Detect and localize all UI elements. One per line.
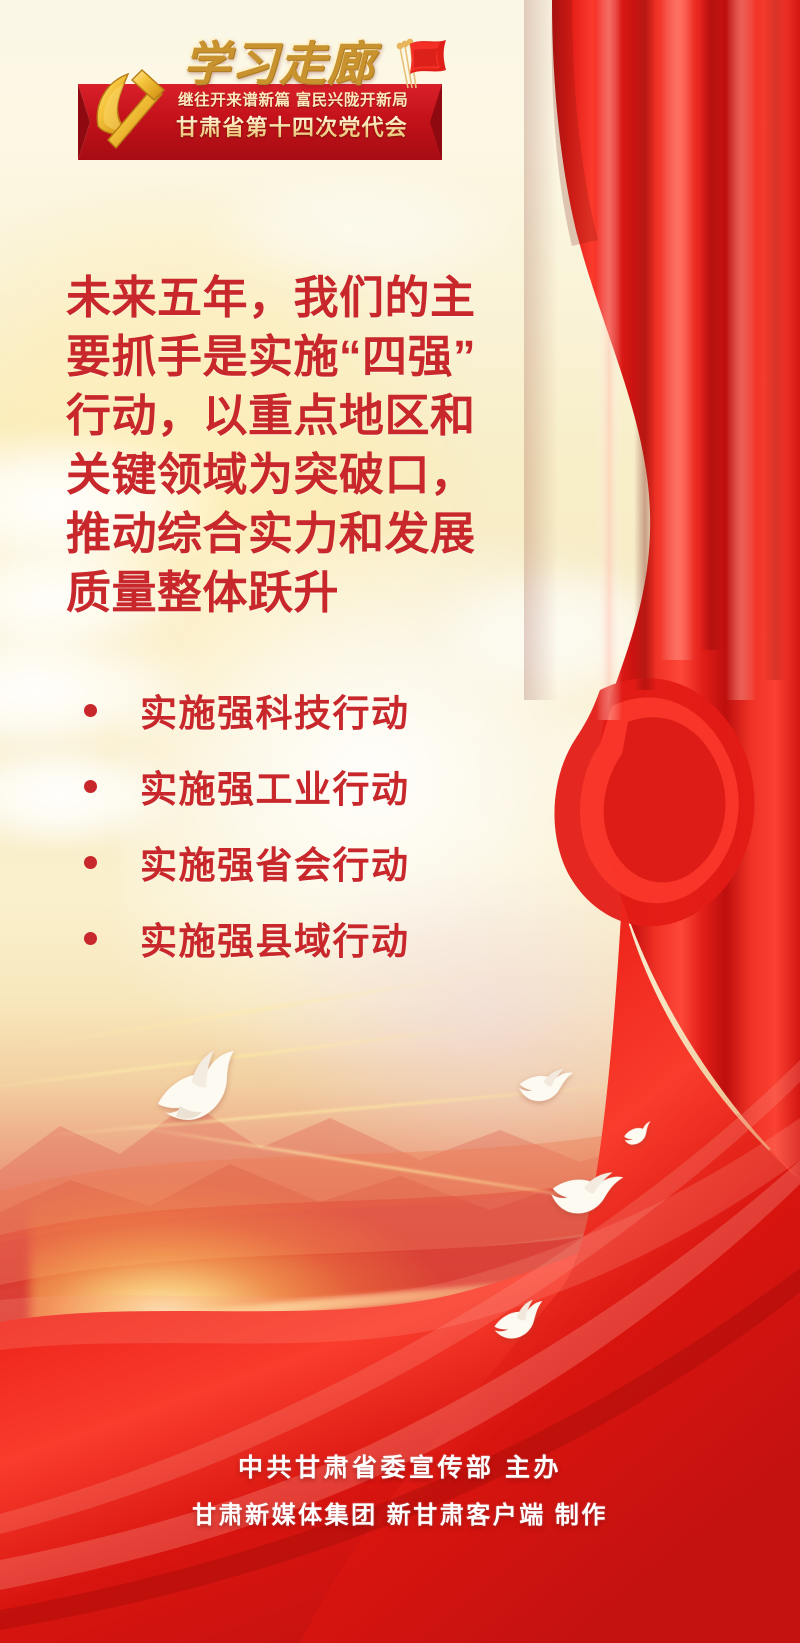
- footer-line-2: 甘肃新媒体集团 新甘肃客户端 制作: [0, 1492, 800, 1540]
- red-flag-icon: [390, 36, 448, 90]
- bullet-dot-icon: [84, 704, 97, 717]
- bullet-label: 实施强省会行动: [140, 835, 410, 889]
- headline-line-5: 推动综合实力和发展: [66, 504, 586, 563]
- bullet-dot-icon: [84, 932, 97, 945]
- headline-line-2: 要抓手是实施“四强”: [66, 327, 586, 386]
- list-item: 实施强省会行动: [78, 824, 548, 900]
- headline-line-6: 质量整体跃升: [66, 563, 586, 622]
- headline-line-3: 行动，以重点地区和: [66, 386, 586, 445]
- list-item: 实施强科技行动: [78, 672, 548, 748]
- banner-main-line: 甘肃省第十四次党代会: [176, 113, 438, 143]
- bullet-label: 实施强科技行动: [140, 683, 410, 737]
- headline-line-4: 关键领域为突破口，: [66, 445, 586, 504]
- banner-title: 学习走廊: [182, 32, 402, 96]
- list-item: 实施强县域行动: [78, 900, 548, 976]
- poster-root: 学习走廊 继往开来谱新篇 富民兴陇开新局 甘肃省第十四次党代会 未来五年，我们的…: [0, 0, 800, 1643]
- headline-text: 未来五年，我们的主 要抓手是实施“四强” 行动，以重点地区和 关键领域为突破口，…: [66, 268, 586, 622]
- bullet-dot-icon: [84, 780, 97, 793]
- bullet-list: 实施强科技行动 实施强工业行动 实施强省会行动 实施强县域行动: [78, 672, 548, 976]
- headline-line-1: 未来五年，我们的主: [66, 268, 586, 327]
- header-banner: 学习走廊 继往开来谱新篇 富民兴陇开新局 甘肃省第十四次党代会: [78, 34, 442, 168]
- footer-credits: 中共甘肃省委宣传部 主办 甘肃新媒体集团 新甘肃客户端 制作: [0, 1444, 800, 1540]
- bullet-label: 实施强工业行动: [140, 759, 410, 813]
- bullet-label: 实施强县域行动: [140, 911, 410, 965]
- bullet-dot-icon: [84, 856, 97, 869]
- banner-subtitle: 继往开来谱新篇 富民兴陇开新局: [178, 90, 436, 111]
- footer-line-1: 中共甘肃省委宣传部 主办: [0, 1444, 800, 1492]
- list-item: 实施强工业行动: [78, 748, 548, 824]
- sunrise-glow: [30, 1180, 450, 1440]
- party-emblem-icon: [84, 56, 170, 152]
